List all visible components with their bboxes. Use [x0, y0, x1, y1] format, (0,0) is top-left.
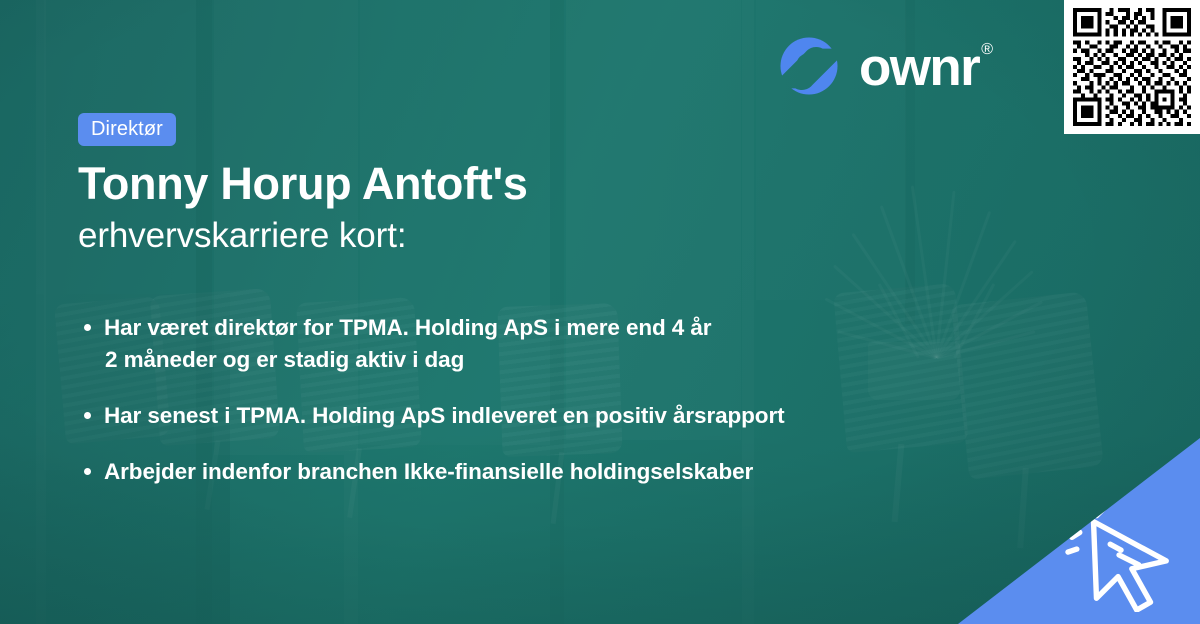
ownr-wordmark-text: ownr [859, 38, 979, 97]
page-title: Tonny Horup Antoft's [78, 160, 528, 207]
click-cursor-icon [1064, 500, 1182, 612]
page-subtitle: erhvervskarriere kort: [78, 216, 406, 256]
qr-code [1073, 8, 1191, 126]
bullet-dot-icon [84, 468, 91, 475]
list-item: Har senest i TPMA. Holding ApS indlevere… [82, 400, 982, 432]
career-bullet-list: Har været direktør for TPMA. Holding ApS… [82, 312, 982, 488]
business-career-card: Direktør Tonny Horup Antoft's erhvervska… [0, 0, 1200, 624]
card-content: Direktør Tonny Horup Antoft's erhvervska… [0, 0, 1200, 624]
role-badge: Direktør [78, 113, 176, 146]
ownr-circle-mark-icon [778, 35, 840, 97]
list-item-line1: Har senest i TPMA. Holding ApS indlevere… [104, 403, 785, 428]
registered-trademark-icon: ® [981, 41, 993, 58]
list-item: Har været direktør for TPMA. Holding ApS… [82, 312, 982, 376]
corner-accent-triangle [958, 438, 1200, 624]
ownr-logo[interactable]: ownr® [778, 31, 991, 101]
list-item-line1: Har været direktør for TPMA. Holding ApS… [104, 315, 711, 340]
list-item: Arbejder indenfor branchen Ikke-finansie… [82, 456, 982, 488]
list-item-line2: 2 måneder og er stadig aktiv i dag [104, 344, 982, 376]
bullet-dot-icon [84, 324, 91, 331]
ownr-wordmark: ownr® [859, 41, 991, 94]
qr-code-panel[interactable] [1064, 0, 1200, 134]
list-item-line1: Arbejder indenfor branchen Ikke-finansie… [104, 459, 753, 484]
bullet-dot-icon [84, 412, 91, 419]
